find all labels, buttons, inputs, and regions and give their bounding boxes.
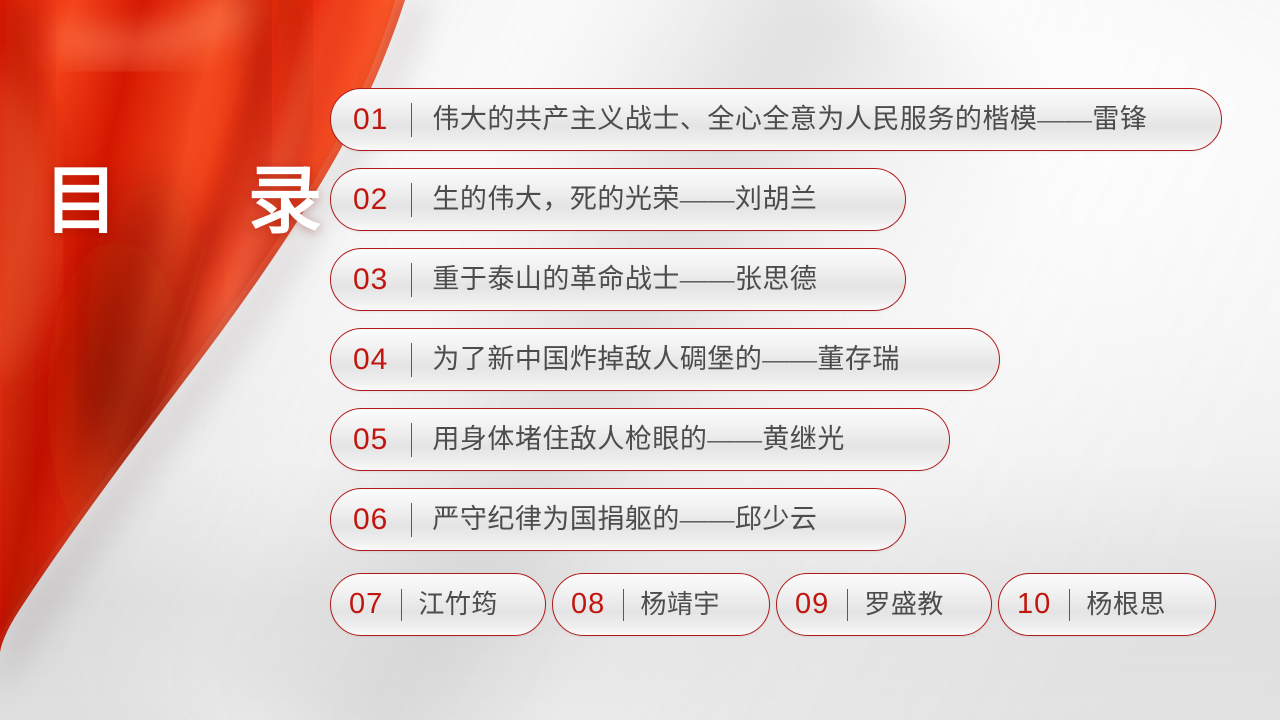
toc-label-05: 用身体堵住敌人枪眼的——黄继光	[432, 426, 863, 453]
toc-divider-icon	[411, 343, 412, 377]
toc-divider-icon	[847, 589, 848, 621]
toc-item-08[interactable]: 08 杨靖宇	[552, 573, 770, 636]
toc-item-01[interactable]: 01 伟大的共产主义战士、全心全意为人民服务的楷模——雷锋	[330, 88, 1222, 151]
toc-number-05: 05	[353, 425, 403, 455]
toc-number-10: 10	[1017, 590, 1063, 619]
toc-number-03: 03	[353, 265, 403, 295]
toc-divider-icon	[411, 423, 412, 457]
toc-number-02: 02	[353, 185, 403, 215]
toc-divider-icon	[411, 263, 412, 297]
toc-divider-icon	[401, 589, 402, 621]
toc-number-08: 08	[571, 590, 617, 619]
toc-item-02[interactable]: 02 生的伟大，死的光荣——刘胡兰	[330, 168, 906, 231]
toc-number-07: 07	[349, 590, 395, 619]
toc-label-04: 为了新中国炸掉敌人碉堡的——董存瑞	[432, 346, 918, 373]
toc-number-01: 01	[353, 105, 403, 135]
toc-label-01: 伟大的共产主义战士、全心全意为人民服务的楷模——雷锋	[432, 106, 1165, 133]
toc-label-10: 杨根思	[1086, 592, 1178, 618]
toc-number-04: 04	[353, 345, 403, 375]
toc-item-10[interactable]: 10 杨根思	[998, 573, 1216, 636]
toc-number-06: 06	[353, 505, 403, 535]
toc-divider-icon	[411, 103, 412, 137]
toc-list: 01 伟大的共产主义战士、全心全意为人民服务的楷模——雷锋 02 生的伟大，死的…	[0, 0, 1280, 720]
toc-item-06[interactable]: 06 严守纪律为国捐躯的——邱少云	[330, 488, 906, 551]
toc-divider-icon	[623, 589, 624, 621]
toc-label-06: 严守纪律为国捐躯的——邱少云	[432, 506, 835, 533]
toc-divider-icon	[411, 503, 412, 537]
toc-label-09: 罗盛教	[864, 592, 956, 618]
toc-label-08: 杨靖宇	[640, 592, 732, 618]
toc-label-03: 重于泰山的革命战士——张思德	[432, 266, 835, 293]
toc-number-09: 09	[795, 590, 841, 619]
toc-item-05[interactable]: 05 用身体堵住敌人枪眼的——黄继光	[330, 408, 950, 471]
toc-divider-icon	[1069, 589, 1070, 621]
toc-label-02: 生的伟大，死的光荣——刘胡兰	[432, 186, 835, 213]
toc-item-04[interactable]: 04 为了新中国炸掉敌人碉堡的——董存瑞	[330, 328, 1000, 391]
toc-item-09[interactable]: 09 罗盛教	[776, 573, 992, 636]
slide-root: 目 录 01 伟大的共产主义战士、全心全意为人民服务的楷模——雷锋 02 生的伟…	[0, 0, 1280, 720]
toc-item-03[interactable]: 03 重于泰山的革命战士——张思德	[330, 248, 906, 311]
toc-item-07[interactable]: 07 江竹筠	[330, 573, 546, 636]
toc-divider-icon	[411, 183, 412, 217]
toc-label-07: 江竹筠	[418, 592, 510, 618]
